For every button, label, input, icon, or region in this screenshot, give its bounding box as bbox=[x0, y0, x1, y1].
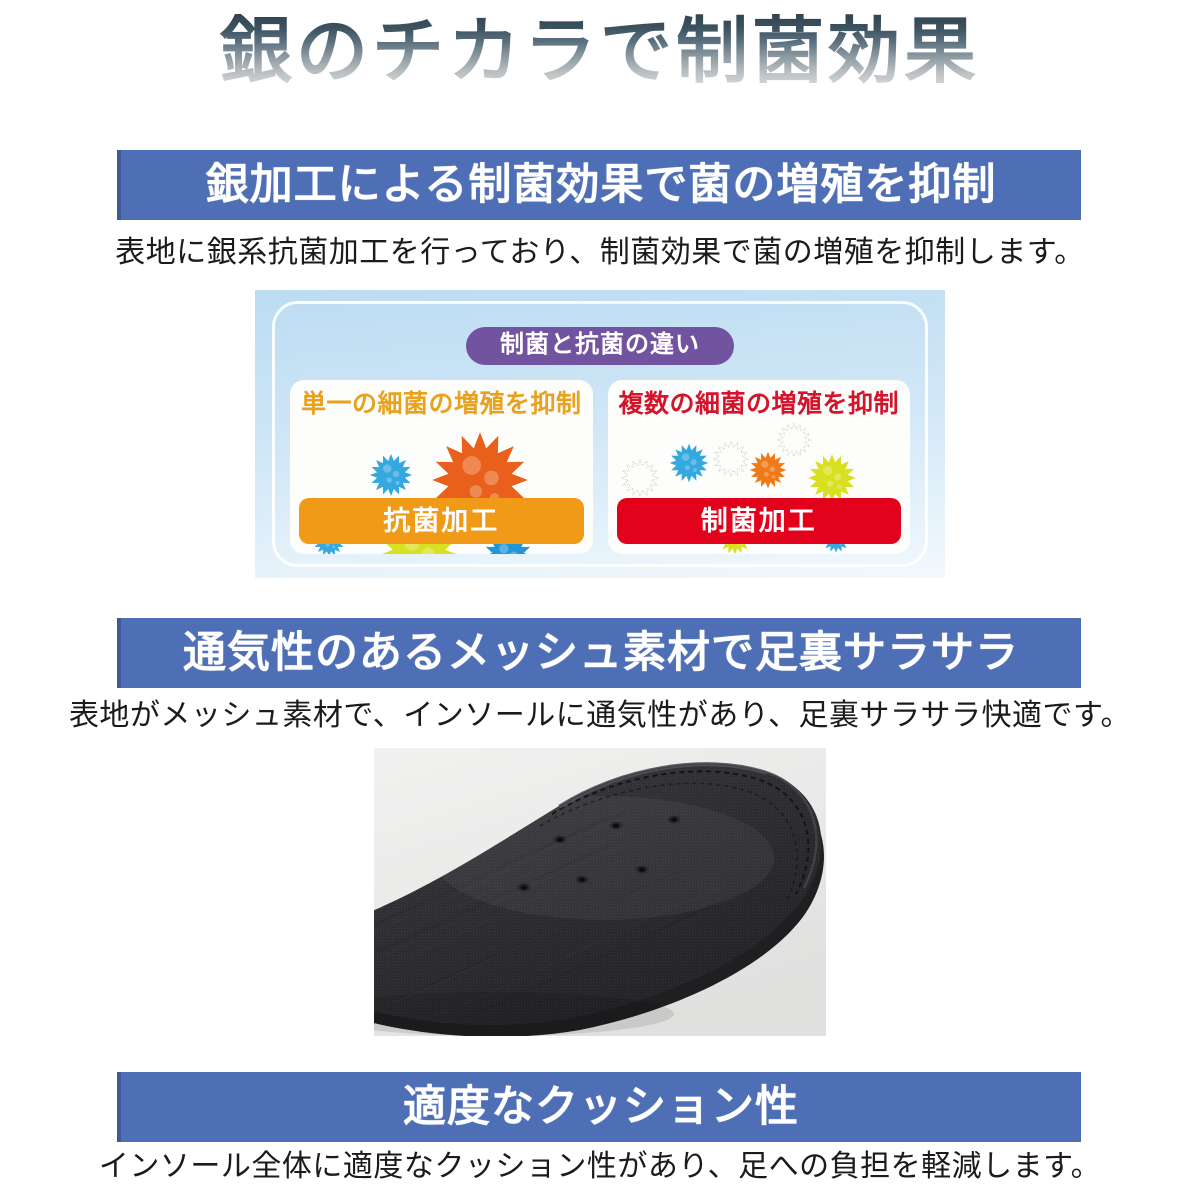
insole-svg bbox=[374, 748, 826, 1036]
infographic-page: 銀のチカラで制菌効果 銀加工による制菌効果で菌の増殖を抑制 表地に銀系抗菌加工を… bbox=[0, 0, 1200, 1200]
insole-illustration bbox=[374, 748, 826, 1036]
section-banner-label: 適度なクッション性 bbox=[403, 1086, 799, 1129]
antimicrobial-panel-heading: 複数の細菌の増殖を抑制 bbox=[608, 392, 911, 417]
section-banner-breathable-mesh: 通気性のあるメッシュ素材で足裏サラサラ bbox=[117, 618, 1081, 688]
black-mesh-insole-photo bbox=[374, 748, 826, 1036]
germ-outline-icon bbox=[620, 458, 660, 498]
page-title: 銀のチカラで制菌効果 bbox=[0, 14, 1200, 92]
germ-outline-8 bbox=[776, 422, 812, 463]
section-description-silver-antibacterial: 表地に銀系抗菌加工を行っており、制菌効果で菌の増殖を抑制します。 bbox=[0, 238, 1200, 268]
section-banner-label: 銀加工による制菌効果で菌の増殖を抑制 bbox=[206, 164, 997, 207]
germ-icon bbox=[368, 452, 414, 498]
diagram-title-pill: 制菌と抗菌の違い bbox=[466, 327, 734, 365]
antibacterial-footer-label: 抗菌加工 bbox=[299, 498, 584, 544]
germ-outline-icon bbox=[776, 422, 812, 458]
germ-outline-6 bbox=[620, 458, 660, 503]
section-banner-silver-antibacterial: 銀加工による制菌効果で菌の増殖を抑制 bbox=[117, 150, 1081, 220]
section-banner-label: 通気性のあるメッシュ素材で足裏サラサラ bbox=[183, 632, 1019, 675]
section-description-moderate-cushioning: インソール全体に適度なクッション性があり、足への負担を軽減します。 bbox=[0, 1152, 1200, 1182]
germ-icon bbox=[668, 442, 710, 484]
germ-outline-icon bbox=[712, 440, 750, 478]
germ-icon bbox=[806, 452, 858, 504]
antibacterial-vs-antimicrobial-diagram: 制菌と抗菌の違い 単一の細菌の増殖を抑制 抗菌加工 複数の細菌の増殖を抑制 制菌… bbox=[255, 290, 945, 578]
antibacterial-panel-heading: 単一の細菌の増殖を抑制 bbox=[290, 392, 593, 417]
antimicrobial-footer-label: 制菌加工 bbox=[617, 498, 902, 544]
diagram-panels: 単一の細菌の増殖を抑制 抗菌加工 複数の細菌の増殖を抑制 制菌加工 bbox=[290, 380, 910, 554]
germ-solid-0 bbox=[668, 442, 710, 489]
germ-outline-7 bbox=[712, 440, 750, 483]
antibacterial-panel: 単一の細菌の増殖を抑制 抗菌加工 bbox=[290, 380, 593, 554]
germ-solid-0 bbox=[368, 452, 414, 503]
section-banner-moderate-cushioning: 適度なクッション性 bbox=[117, 1072, 1081, 1142]
antimicrobial-panel: 複数の細菌の増殖を抑制 制菌加工 bbox=[608, 380, 911, 554]
section-description-breathable-mesh: 表地がメッシュ素材で、インソールに通気性があり、足裏サラサラ快適です。 bbox=[0, 701, 1200, 731]
